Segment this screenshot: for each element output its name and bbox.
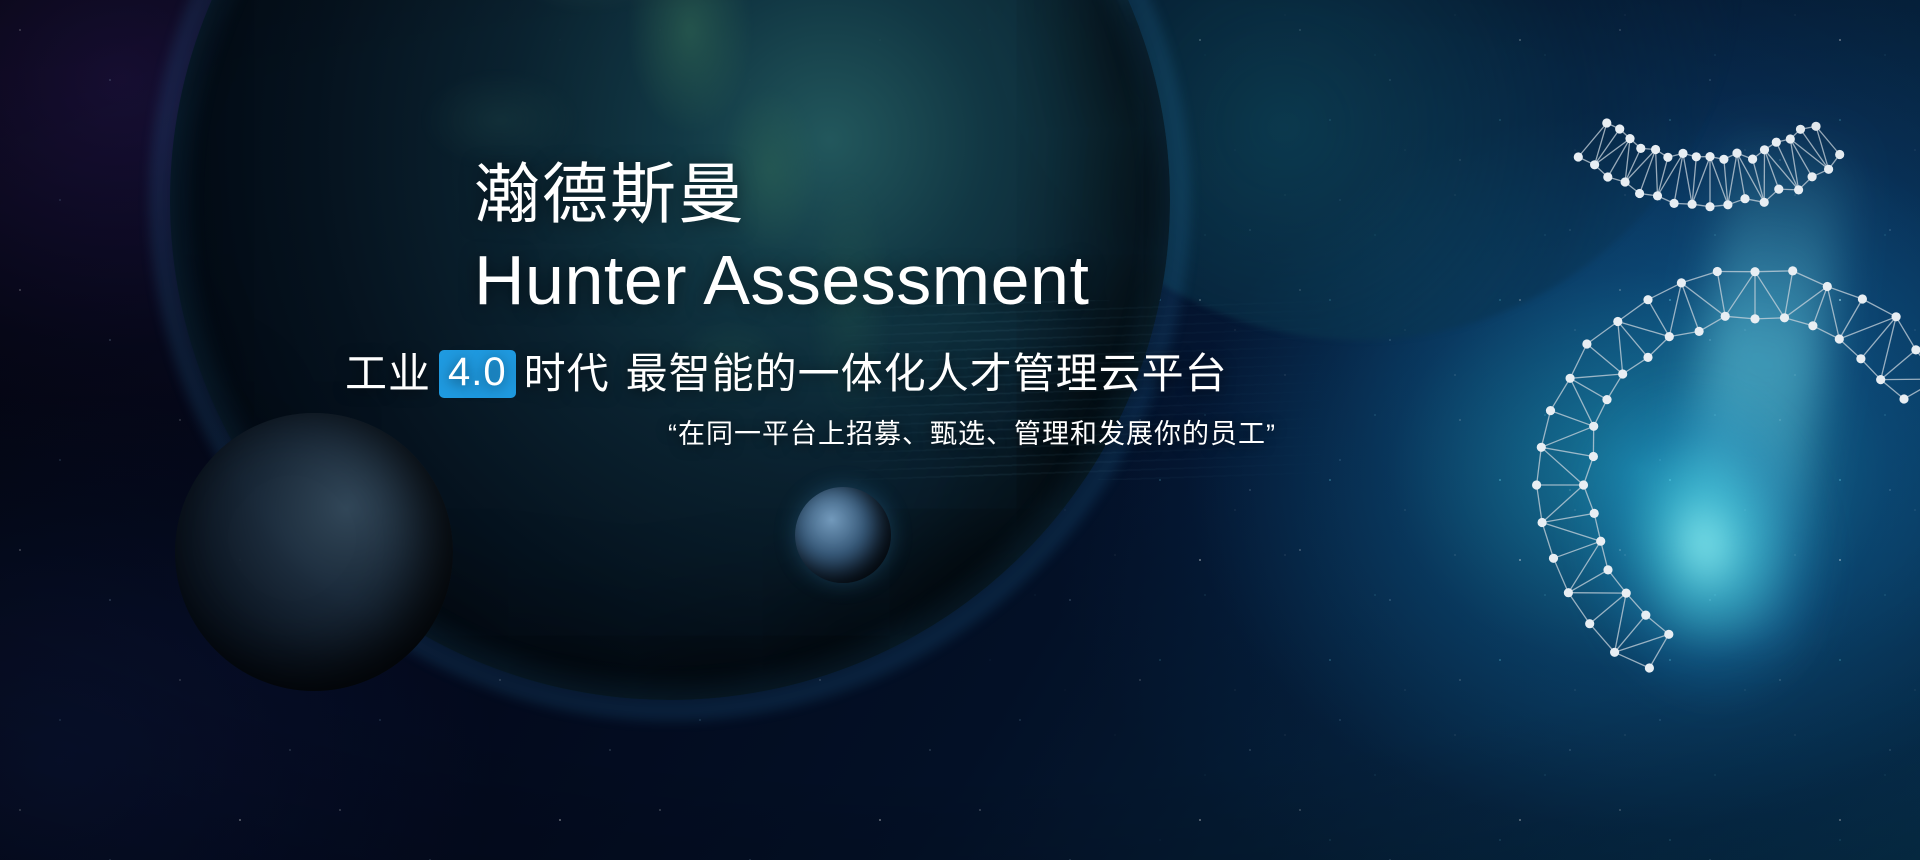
tagline-suffix: 最智能的一体化人才管理云平台 — [626, 353, 1228, 395]
hero-text-block: 瀚德斯曼 Hunter Assessment 工业 4.0 时代 最智能的一体化… — [0, 0, 1920, 860]
page-title-en: Hunter Assessment — [474, 245, 1089, 315]
hero-banner: 瀚德斯曼 Hunter Assessment 工业 4.0 时代 最智能的一体化… — [0, 0, 1920, 860]
tagline: 工业 4.0 时代 最智能的一体化人才管理云平台 — [345, 350, 1228, 398]
page-title-cn: 瀚德斯曼 — [474, 161, 746, 227]
version-badge-4-0: 4.0 — [439, 350, 516, 398]
tagline-prefix: 工业 — [345, 353, 431, 395]
tagline-middle: 时代 — [524, 353, 610, 395]
hero-quote: “在同一平台上招募、甄选、管理和发展你的员工” — [668, 412, 1276, 451]
